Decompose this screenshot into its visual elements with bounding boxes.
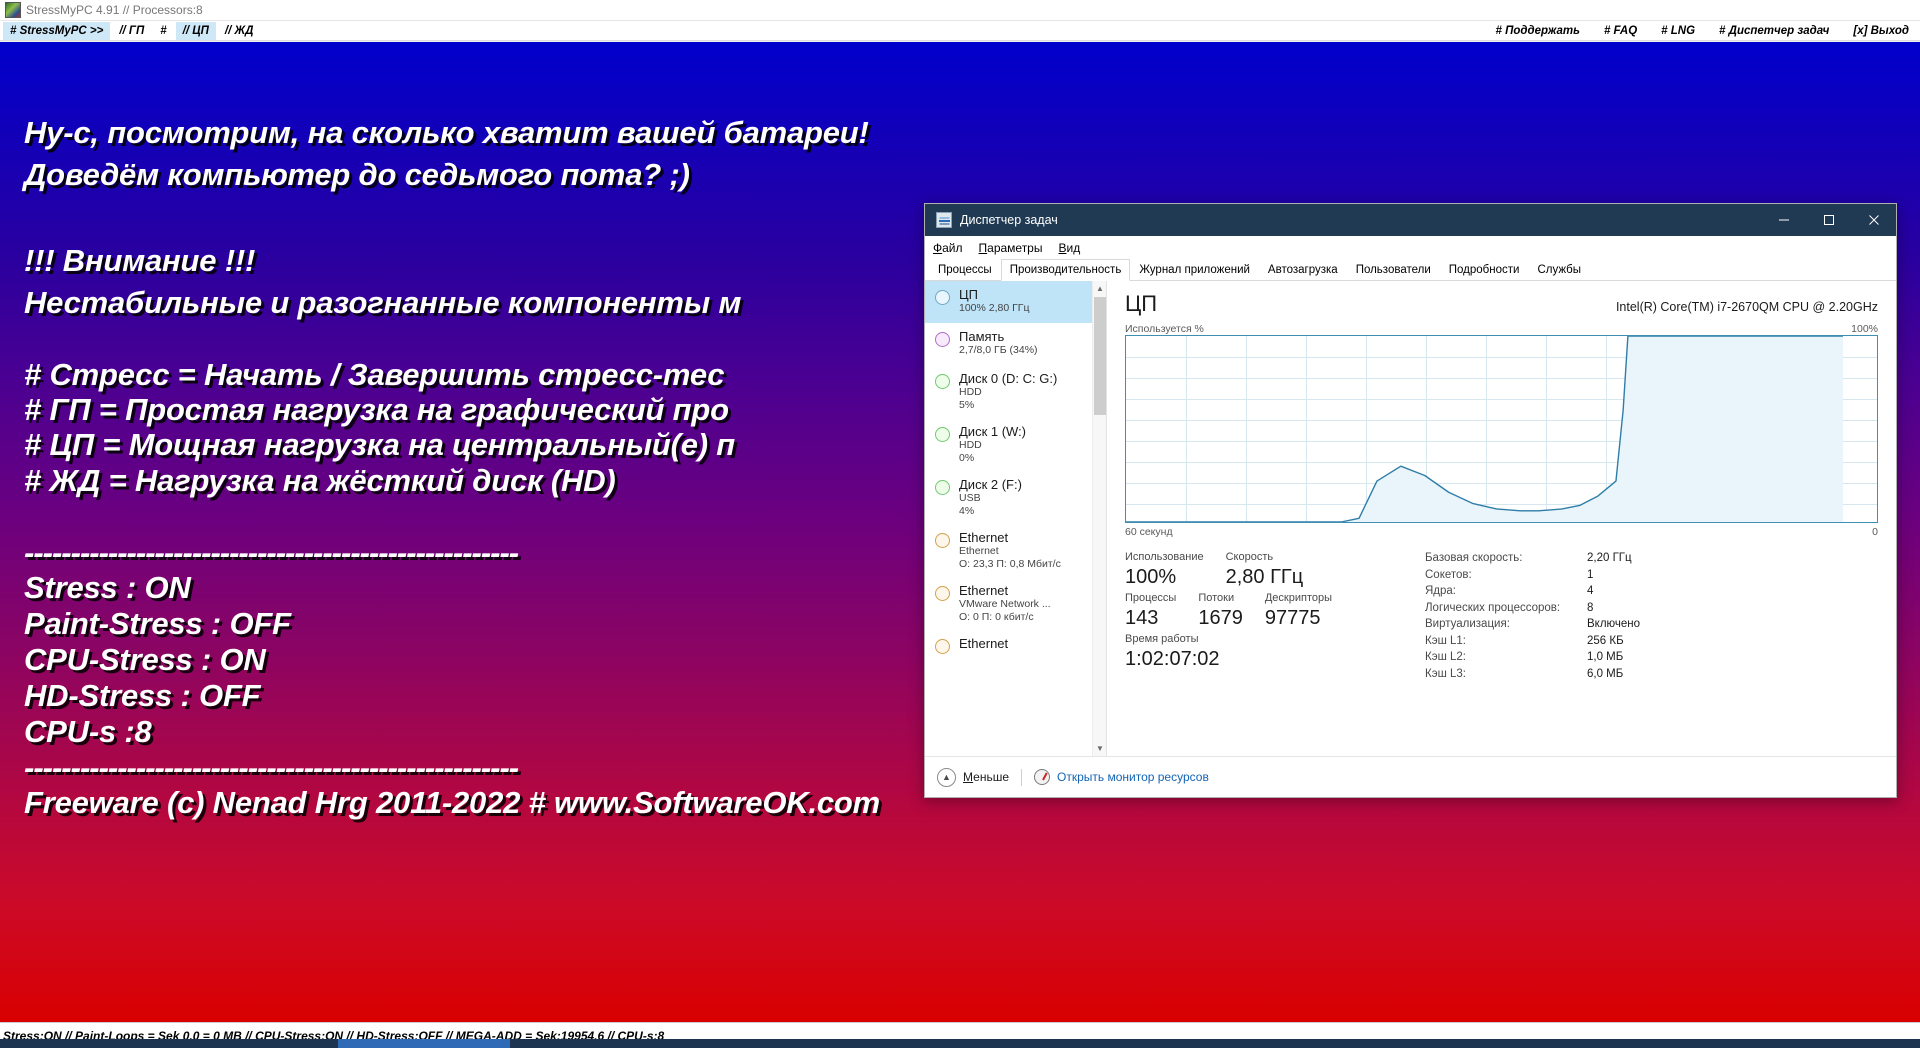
stat-threads-label: Потоки [1198, 591, 1243, 606]
menu-item-hdd[interactable]: // ЖД [218, 22, 261, 40]
menu-item-hash[interactable]: # [153, 22, 173, 40]
performance-detail-panel: ЦП Intel(R) Core(TM) i7-2670QM CPU @ 2.2… [1107, 281, 1896, 756]
graph-y-max-label: 100% [1851, 323, 1878, 335]
app-menu-right: # Поддержать # FAQ # LNG # Диспетчер зад… [1479, 22, 1917, 40]
memory-indicator-icon [935, 332, 950, 347]
stressmypc-window: StressMyPC 4.91 // Processors:8 # Stress… [0, 0, 1920, 1048]
scroll-up-icon[interactable]: ▲ [1093, 281, 1107, 296]
stat-handles-value: 97775 [1265, 606, 1332, 630]
sidebar-item-ethernet-2-title: Ethernet [959, 583, 1051, 598]
detail-header: ЦП Intel(R) Core(TM) i7-2670QM CPU @ 2.2… [1125, 291, 1878, 317]
canvas-status-paint-stress: Paint-Stress : OFF [24, 608, 291, 639]
close-icon[interactable] [1851, 204, 1896, 236]
open-resource-monitor-link[interactable]: Открыть монитор ресурсов [1057, 770, 1209, 784]
menu-item-faq[interactable]: # FAQ [1597, 22, 1644, 40]
menu-item-stressmypc[interactable]: # StressMyPC >> [3, 22, 110, 40]
canvas-status-cpus: CPU-s :8 [24, 716, 152, 747]
sidebar-scrollbar[interactable]: ▲ ▼ [1092, 281, 1106, 756]
tab-processes[interactable]: Процессы [929, 259, 1001, 280]
sidebar-item-memory-sub1: 2,7/8,0 ГБ (34%) [959, 344, 1038, 357]
resource-list: ЦП 100% 2,80 ГГц Память 2,7/8,0 ГБ (34%) [925, 281, 1092, 756]
taskbar-active-item[interactable] [338, 1039, 510, 1048]
sidebar-item-disk-2[interactable]: Диск 2 (F:) USB 4% [925, 471, 1092, 524]
stat-processes-label: Процессы [1125, 591, 1176, 606]
menu-view-rest: ид [1067, 241, 1081, 255]
graph-y-axis-label: Используется % [1125, 323, 1204, 335]
canvas-line-hdd: # ЖД = Нагрузка на жёсткий диск (HD) [24, 465, 616, 496]
cpu-indicator-icon [935, 290, 950, 305]
graph-x-end-label: 0 [1872, 526, 1878, 538]
tab-services[interactable]: Службы [1528, 259, 1590, 280]
app-menu-left: # StressMyPC >> // ГП # // ЦП // ЖД [3, 22, 262, 40]
sidebar-item-ethernet-2[interactable]: Ethernet VMware Network ... О: 0 П: 0 кб… [925, 577, 1092, 630]
fewer-details-accel: М [963, 770, 973, 784]
stat-speed-label: Скорость [1226, 550, 1304, 565]
sidebar-item-memory-title: Память [959, 329, 1038, 344]
stat-uptime: Время работы 1:02:07:02 [1125, 632, 1220, 671]
sidebar-item-disk-1[interactable]: Диск 1 (W:) HDD 0% [925, 418, 1092, 471]
spec-base-speed: Базовая скорость: 2,20 ГГц [1425, 550, 1878, 567]
spec-l1-cache-value: 256 КБ [1587, 633, 1624, 650]
cpu-specs: Базовая скорость: 2,20 ГГц Сокетов: 1 Яд… [1415, 550, 1878, 682]
tab-performance[interactable]: Производительность [1001, 259, 1131, 281]
spec-logical-processors: Логических процессоров: 8 [1425, 600, 1878, 617]
scrollbar-thumb[interactable] [1094, 297, 1106, 415]
minimize-icon[interactable] [1761, 204, 1806, 236]
canvas-line-gpu: # ГП = Простая нагрузка на графический п… [24, 394, 729, 425]
sidebar-item-ethernet-1-sub1: Ethernet [959, 545, 1061, 558]
sidebar-item-disk-0-title: Диск 0 (D: C: G:) [959, 371, 1057, 386]
menu-item-lng[interactable]: # LNG [1654, 22, 1702, 40]
sidebar-item-disk-2-sub2: 4% [959, 505, 1022, 518]
app-logo-icon [5, 2, 21, 18]
sidebar-item-disk-2-title: Диск 2 (F:) [959, 477, 1022, 492]
menu-options[interactable]: Параметры [979, 241, 1043, 255]
stat-row-uptime: Время работы 1:02:07:02 [1125, 632, 1415, 671]
taskmgr-titlebar[interactable]: Диспетчер задач [925, 204, 1896, 236]
ethernet1-indicator-icon [935, 533, 950, 548]
sidebar-item-ethernet-1[interactable]: Ethernet Ethernet О: 23,3 П: 0,8 Мбит/с [925, 524, 1092, 577]
menu-file-rest: айл [942, 241, 962, 255]
app-menubar: # StressMyPC >> // ГП # // ЦП // ЖД # По… [0, 21, 1920, 41]
stat-threads-value: 1679 [1198, 606, 1243, 630]
canvas-line-battery: Ну-с, посмотрим, на сколько хватит вашей… [24, 117, 869, 148]
taskmgr-title: Диспетчер задач [960, 213, 1058, 227]
spec-sockets-key: Сокетов: [1425, 567, 1587, 584]
footer-divider [1021, 769, 1022, 786]
detail-heading: ЦП [1125, 291, 1157, 317]
tab-users[interactable]: Пользователи [1347, 259, 1440, 280]
stat-uptime-label: Время работы [1125, 632, 1220, 647]
spec-cores-key: Ядра: [1425, 583, 1587, 600]
ethernet2-indicator-icon [935, 586, 950, 601]
stat-row-usage: Использование 100% Скорость 2,80 ГГц [1125, 550, 1415, 589]
scroll-down-icon[interactable]: ▼ [1093, 741, 1107, 756]
spec-virtualization-value: Включено [1587, 616, 1640, 633]
fewer-details-rest: еньше [973, 770, 1009, 784]
spec-l3-cache: Кэш L3: 6,0 МБ [1425, 666, 1878, 683]
cpu-utilization-graph [1125, 335, 1878, 523]
menu-file-accel: Ф [933, 241, 942, 255]
canvas-divider-bottom: ----------------------------------------… [24, 752, 518, 783]
tab-details[interactable]: Подробности [1440, 259, 1529, 280]
app-title: StressMyPC 4.91 // Processors:8 [26, 3, 203, 17]
menu-options-accel: П [979, 241, 988, 255]
stat-speed: Скорость 2,80 ГГц [1226, 550, 1304, 589]
chevron-up-icon[interactable]: ▲ [937, 768, 956, 787]
stat-processes-value: 143 [1125, 606, 1176, 630]
canvas-line-stress: # Стресс = Начать / Завершить стресс-тес [24, 359, 724, 390]
sidebar-item-cpu-title: ЦП [959, 287, 1030, 302]
canvas-status-hd-stress: HD-Stress : OFF [24, 680, 260, 711]
spec-base-speed-key: Базовая скорость: [1425, 550, 1587, 567]
ethernet3-indicator-icon [935, 639, 950, 654]
spec-cores-value: 4 [1587, 583, 1593, 600]
cpu-stats-left: Использование 100% Скорость 2,80 ГГц Про… [1125, 550, 1415, 682]
cpu-model-label: Intel(R) Core(TM) i7-2670QM CPU @ 2.20GH… [1616, 300, 1878, 314]
spec-l2-cache-value: 1,0 МБ [1587, 649, 1623, 666]
task-manager-window: Диспетчер задач Файл Параметры Вид Проце… [924, 203, 1897, 798]
canvas-line-sweat: Доведём компьютер до седьмого пота? ;) [24, 159, 690, 190]
sidebar-item-disk-1-sub2: 0% [959, 452, 1026, 465]
menu-options-rest: араметры [987, 241, 1042, 255]
graph-axis-labels: Используется % 100% [1125, 323, 1878, 335]
sidebar-item-disk-2-sub1: USB [959, 492, 1022, 505]
spec-cores: Ядра: 4 [1425, 583, 1878, 600]
sidebar-item-ethernet-1-sub2: О: 23,3 П: 0,8 Мбит/с [959, 558, 1061, 571]
sidebar-item-cpu[interactable]: ЦП 100% 2,80 ГГц [925, 281, 1092, 323]
menu-view[interactable]: Вид [1058, 241, 1080, 255]
spec-sockets: Сокетов: 1 [1425, 567, 1878, 584]
stat-handles-label: Дескрипторы [1265, 591, 1332, 606]
graph-x-start-label: 60 секунд [1125, 526, 1173, 538]
stat-handles: Дескрипторы 97775 [1265, 591, 1332, 630]
stat-speed-value: 2,80 ГГц [1226, 565, 1304, 589]
tab-startup[interactable]: Автозагрузка [1259, 259, 1347, 280]
window-controls [1761, 204, 1896, 236]
graph-x-axis-labels: 60 секунд 0 [1125, 526, 1878, 538]
canvas-status-cpu-stress: CPU-Stress : ON [24, 644, 266, 675]
canvas-divider-top: ----------------------------------------… [24, 537, 518, 568]
canvas-status-stress: Stress : ON [24, 572, 191, 603]
stat-utilization-value: 100% [1125, 565, 1204, 589]
taskmgr-tabs: Процессы Производительность Журнал прило… [925, 259, 1896, 281]
spec-l2-cache-key: Кэш L2: [1425, 649, 1587, 666]
sidebar-item-memory[interactable]: Память 2,7/8,0 ГБ (34%) [925, 323, 1092, 365]
taskmgr-icon [936, 212, 952, 228]
spec-l3-cache-value: 6,0 МБ [1587, 666, 1623, 683]
stat-uptime-value: 1:02:07:02 [1125, 647, 1220, 671]
cpu-stats: Использование 100% Скорость 2,80 ГГц Про… [1125, 550, 1878, 682]
stat-utilization-label: Использование [1125, 550, 1204, 565]
sidebar-item-ethernet-3[interactable]: Ethernet [925, 630, 1092, 672]
sidebar-item-disk-1-title: Диск 1 (W:) [959, 424, 1026, 439]
resource-monitor-icon [1034, 769, 1050, 785]
sidebar-item-disk-0[interactable]: Диск 0 (D: C: G:) HDD 5% [925, 365, 1092, 418]
canvas-line-freeware: Freeware (c) Nenad Hrg 2011-2022 # www.S… [24, 787, 880, 818]
sidebar-item-ethernet-2-sub1: VMware Network ... [959, 598, 1051, 611]
menu-item-cpu[interactable]: // ЦП [176, 22, 216, 40]
spec-l2-cache: Кэш L2: 1,0 МБ [1425, 649, 1878, 666]
spec-l1-cache-key: Кэш L1: [1425, 633, 1587, 650]
sidebar-item-cpu-sub1: 100% 2,80 ГГц [959, 302, 1030, 315]
stat-processes: Процессы 143 [1125, 591, 1176, 630]
sidebar-item-disk-0-sub2: 5% [959, 399, 1057, 412]
canvas-line-warning: !!! Внимание !!! [24, 245, 255, 276]
sidebar-item-disk-0-sub1: HDD [959, 386, 1057, 399]
disk1-indicator-icon [935, 427, 950, 442]
cpu-chart-svg [1126, 336, 1843, 522]
spec-base-speed-value: 2,20 ГГц [1587, 550, 1632, 567]
app-titlebar: StressMyPC 4.91 // Processors:8 [0, 0, 1920, 21]
tab-app-history[interactable]: Журнал приложений [1130, 259, 1259, 280]
menu-view-accel: В [1058, 241, 1066, 255]
menu-file[interactable]: Файл [933, 241, 963, 255]
taskmgr-menubar: Файл Параметры Вид [925, 236, 1896, 259]
canvas-line-cpu: # ЦП = Мощная нагрузка на центральный(е)… [24, 429, 735, 460]
spec-l1-cache: Кэш L1: 256 КБ [1425, 633, 1878, 650]
fewer-details-button[interactable]: Меньше [963, 770, 1009, 784]
spec-virtualization: Виртуализация: Включено [1425, 616, 1878, 633]
stat-utilization: Использование 100% [1125, 550, 1204, 589]
taskmgr-footer: ▲ Меньше Открыть монитор ресурсов [925, 756, 1896, 797]
canvas-line-unstable: Нестабильные и разогнанные компоненты м [24, 287, 741, 318]
desktop-taskbar[interactable] [0, 1039, 1920, 1048]
spec-l3-cache-key: Кэш L3: [1425, 666, 1587, 683]
sidebar-item-disk-1-sub1: HDD [959, 439, 1026, 452]
sidebar-item-ethernet-3-title: Ethernet [959, 636, 1008, 651]
menu-item-gpu[interactable]: // ГП [112, 22, 151, 40]
spec-sockets-value: 1 [1587, 567, 1593, 584]
taskmgr-body: ЦП 100% 2,80 ГГц Память 2,7/8,0 ГБ (34%) [925, 281, 1896, 756]
sidebar-item-ethernet-2-sub2: О: 0 П: 0 кбит/с [959, 611, 1051, 624]
spec-logical-processors-value: 8 [1587, 600, 1593, 617]
stat-row-counts: Процессы 143 Потоки 1679 Дескрипторы 977… [1125, 591, 1415, 630]
sidebar-item-ethernet-1-title: Ethernet [959, 530, 1061, 545]
stat-threads: Потоки 1679 [1198, 591, 1243, 630]
resource-sidebar: ЦП 100% 2,80 ГГц Память 2,7/8,0 ГБ (34%) [925, 281, 1107, 756]
disk2-indicator-icon [935, 480, 950, 495]
spec-virtualization-key: Виртуализация: [1425, 616, 1587, 633]
spec-logical-processors-key: Логических процессоров: [1425, 600, 1587, 617]
disk0-indicator-icon [935, 374, 950, 389]
menu-item-support[interactable]: # Поддержать [1489, 22, 1587, 40]
menu-item-task-manager[interactable]: # Диспетчер задач [1712, 22, 1836, 40]
maximize-icon[interactable] [1806, 204, 1851, 236]
menu-item-exit[interactable]: [x] Выход [1846, 22, 1916, 40]
